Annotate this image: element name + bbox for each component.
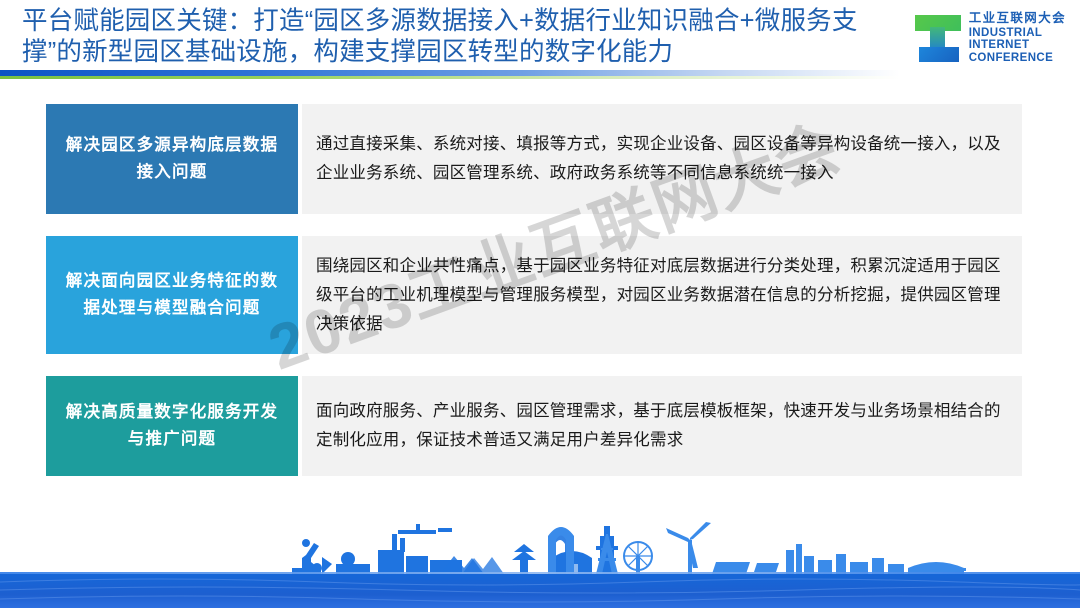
content-row: 解决高质量数字化服务开发与推广问题 面向政府服务、产业服务、园区管理需求，基于底…	[0, 376, 1080, 476]
row-body-text-3: 面向政府服务、产业服务、园区管理需求，基于底层模板框架，快速开发与业务场景相结合…	[316, 397, 1004, 455]
logo-chinese-name: 工业互联网大会	[969, 12, 1066, 25]
page-title: 平台赋能园区关键：打造“园区多源数据接入+数据行业知识融合+微服务支 撑”的新型…	[22, 6, 922, 68]
row-body-text-1: 通过直接采集、系统对接、填报等方式，实现企业设备、园区设备等异构设备统一接入，以…	[316, 130, 1004, 188]
title-divider	[0, 70, 900, 80]
title-block: 平台赋能园区关键：打造“园区多源数据接入+数据行业知识融合+微服务支 撑”的新型…	[22, 6, 922, 68]
conference-logo: 工业互联网大会 INDUSTRIAL INTERNET CONFERENCE	[915, 12, 1066, 64]
footer-skyline-decoration	[0, 516, 1080, 608]
content-row: 解决园区多源异构底层数据接入问题 通过直接采集、系统对接、填报等方式，实现企业设…	[0, 104, 1080, 214]
slide-canvas: 平台赋能园区关键：打造“园区多源数据接入+数据行业知识融合+微服务支 撑”的新型…	[0, 0, 1080, 608]
content-rows: 解决园区多源异构底层数据接入问题 通过直接采集、系统对接、填报等方式，实现企业设…	[0, 104, 1080, 498]
industrial-gong-mark-icon	[915, 13, 961, 63]
divider-green-bar	[0, 76, 900, 79]
row-label-1: 解决园区多源异构底层数据接入问题	[46, 104, 298, 214]
row-label-3: 解决高质量数字化服务开发与推广问题	[46, 376, 298, 476]
logo-english-line-1: INDUSTRIAL	[969, 27, 1066, 39]
logo-notch	[915, 31, 930, 46]
content-row: 解决面向园区业务特征的数据处理与模型融合问题 围绕园区和企业共性痛点，基于园区业…	[0, 236, 1080, 354]
row-body-1: 通过直接采集、系统对接、填报等方式，实现企业设备、园区设备等异构设备统一接入，以…	[302, 104, 1022, 214]
logo-english-line-3: CONFERENCE	[969, 52, 1066, 64]
logo-english-line-2: INTERNET	[969, 39, 1066, 51]
row-body-2: 围绕园区和企业共性痛点，基于园区业务特征对底层数据进行分类处理，积累沉淀适用于园…	[302, 236, 1022, 354]
row-body-3: 面向政府服务、产业服务、园区管理需求，基于底层模板框架，快速开发与业务场景相结合…	[302, 376, 1022, 476]
skyline-silhouettes-right	[548, 522, 966, 574]
logo-bottom-bar	[919, 47, 959, 62]
logo-wordmark: 工业互联网大会 INDUSTRIAL INTERNET CONFERENCE	[969, 12, 1066, 64]
row-body-text-2: 围绕园区和企业共性痛点，基于园区业务特征对底层数据进行分类处理，积累沉淀适用于园…	[316, 252, 1004, 339]
waterline-edge	[0, 572, 1080, 574]
row-label-2: 解决面向园区业务特征的数据处理与模型融合问题	[46, 236, 298, 354]
